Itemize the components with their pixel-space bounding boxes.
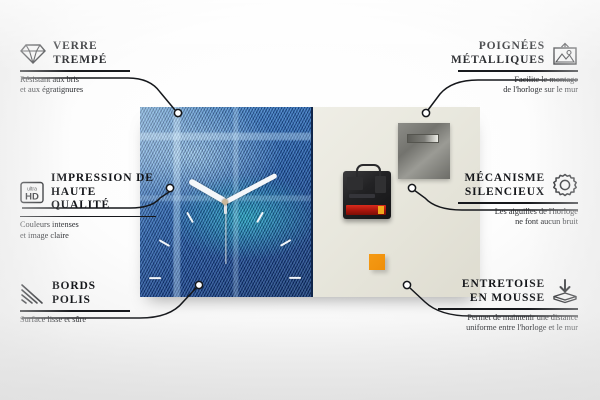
hour-tick xyxy=(257,212,265,223)
callout-title: Entretoise en mousse xyxy=(438,278,545,305)
callout-impression-haute-qualite: ultra HD Impression de haute qualité Cou… xyxy=(20,172,156,241)
mechanism-panel xyxy=(349,194,375,198)
callout-verre-trempe: Verre trempé Résistant aux bris et aux é… xyxy=(20,40,130,96)
callout-head: Entretoise en mousse xyxy=(438,278,578,305)
callout-description: Les aiguilles de l'horloge ne font aucun… xyxy=(458,207,578,228)
callout-description: Facilite le montage de l'horloge sur le … xyxy=(458,75,578,96)
infographic-canvas: Verre trempé Résistant aux bris et aux é… xyxy=(0,0,600,400)
hanging-frame-icon xyxy=(552,42,578,66)
callout-rule xyxy=(438,308,578,310)
clock-back-panel xyxy=(313,107,480,297)
minute-hand xyxy=(224,173,277,204)
callout-title: Bords polis xyxy=(52,280,96,307)
diamond-icon xyxy=(20,43,46,65)
callout-description: Permet de maintenir une distance uniform… xyxy=(438,313,578,334)
callout-title: Impression de haute qualité xyxy=(51,172,156,213)
callout-poignees-metalliques: Poignées métalliques Facilite le montage… xyxy=(458,40,578,96)
callout-rule xyxy=(20,216,156,218)
metal-hanger-plate xyxy=(398,123,450,179)
clock-mechanism xyxy=(343,171,391,219)
callout-title: Poignées métalliques xyxy=(451,40,545,67)
hour-tick xyxy=(187,212,195,223)
ultra-hd-icon: ultra HD xyxy=(20,181,44,204)
battery xyxy=(346,205,386,215)
gear-icon xyxy=(552,173,578,198)
mechanism-panel xyxy=(347,177,363,190)
callout-title: Mécanisme silencieux xyxy=(458,172,545,199)
callout-description: Résistant aux bris et aux égratignures xyxy=(20,75,130,96)
callout-head: Poignées métalliques xyxy=(458,40,578,67)
second-hand xyxy=(225,202,226,264)
hour-tick xyxy=(289,277,301,279)
callout-rule xyxy=(20,310,130,312)
product-image xyxy=(140,107,480,297)
hour-tick xyxy=(280,239,291,247)
hands-center-cap xyxy=(222,199,228,205)
hour-hand xyxy=(188,179,227,205)
callout-entretoise-en-mousse: Entretoise en mousse Permet de maintenir… xyxy=(438,278,578,334)
hour-tick xyxy=(159,239,170,247)
callout-rule xyxy=(458,202,578,204)
callout-head: Bords polis xyxy=(20,280,130,307)
callout-bords-polis: Bords polis Surface lisse et sûre xyxy=(20,280,130,325)
foam-spacer xyxy=(369,254,385,270)
callout-head: Mécanisme silencieux xyxy=(458,172,578,199)
clock-front-face xyxy=(140,107,313,297)
polished-edge-icon xyxy=(20,283,45,305)
callout-title: Verre trempé xyxy=(53,40,107,67)
clock-dial xyxy=(140,107,311,297)
callout-description: Surface lisse et sûre xyxy=(20,315,130,326)
hanger-slot xyxy=(407,134,439,143)
hour-tick xyxy=(149,277,161,279)
callout-mecanisme-silencieux: Mécanisme silencieux Les aiguilles de l'… xyxy=(458,172,578,228)
mechanism-panel xyxy=(375,176,386,193)
callout-head: ultra HD Impression de haute qualité xyxy=(20,172,156,213)
foam-spacer-icon xyxy=(552,279,578,304)
callout-rule xyxy=(458,70,578,72)
ultra-hd-icon-large-text: HD xyxy=(25,191,39,202)
callout-head: Verre trempé xyxy=(20,40,130,67)
callout-rule xyxy=(20,70,130,72)
callout-description: Couleurs intenses et image claire xyxy=(20,220,156,241)
